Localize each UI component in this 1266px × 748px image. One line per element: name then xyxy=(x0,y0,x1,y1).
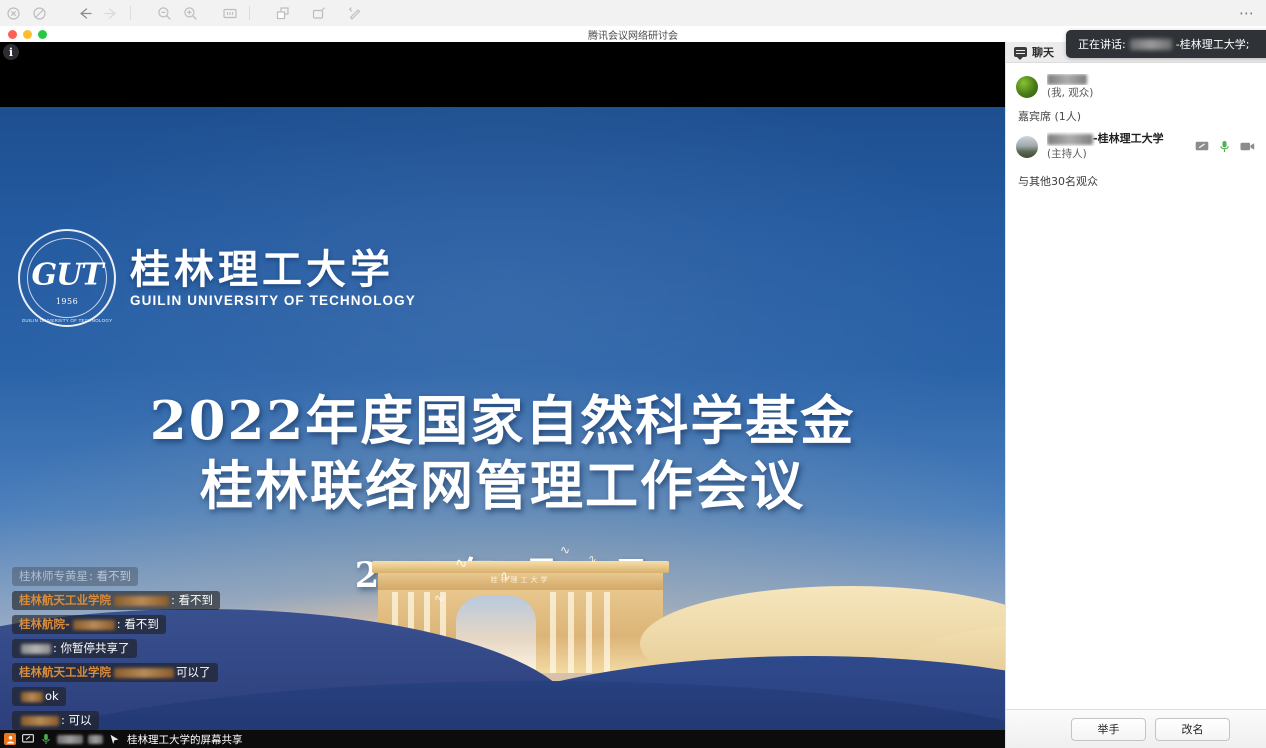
participant-role: (主持人) xyxy=(1047,147,1194,161)
participant-actions xyxy=(1194,141,1257,153)
overlay-sender: 桂林航天工业学院 xyxy=(19,665,111,680)
overlay-sender: 桂林航院- xyxy=(19,617,70,632)
zoom-in-icon[interactable] xyxy=(177,0,203,26)
tencent-meeting-window: ⋯ 腾讯会议网络研讨会 i GUT 1956 GUILIN UNIVERSITY… xyxy=(0,0,1266,748)
overlay-message: 桂林航天工业学院 : 看不到 xyxy=(12,591,220,610)
overlay-message: ok xyxy=(12,687,66,706)
university-crest-icon: GUT 1956 GUILIN UNIVERSITY OF TECHNOLOGY xyxy=(18,229,116,327)
window-arrange-icon[interactable] xyxy=(270,0,296,26)
crest-ring-text: GUILIN UNIVERSITY OF TECHNOLOGY xyxy=(20,318,114,323)
avatar xyxy=(1016,76,1038,98)
cancel-icon[interactable] xyxy=(26,0,52,26)
logo-english-name: GUILIN UNIVERSITY OF TECHNOLOGY xyxy=(130,293,416,308)
screen-share-icon[interactable] xyxy=(21,733,34,746)
overlay-colon: : xyxy=(53,641,61,656)
speaking-toast-suffix: -桂林理工大学; xyxy=(1176,36,1250,52)
zoom-out-icon[interactable] xyxy=(151,0,177,26)
overlay-message: : 可以 xyxy=(12,711,99,730)
guest-section-label: 嘉宾席 (1人) xyxy=(1006,105,1266,127)
share-status-text: 桂林理工大学的屏幕共享 xyxy=(127,732,243,747)
participant-name-blur xyxy=(1047,134,1093,145)
close-window-button[interactable] xyxy=(8,30,17,39)
overlay-sender-blur xyxy=(114,596,169,606)
overlay-sender: 桂林师专黄星 xyxy=(19,569,88,584)
university-logo: GUT 1956 GUILIN UNIVERSITY OF TECHNOLOGY… xyxy=(18,229,416,327)
list-item[interactable]: (我, 观众) xyxy=(1006,69,1266,105)
back-arrow-icon[interactable] xyxy=(72,0,98,26)
participant-role: (我, 观众) xyxy=(1047,86,1257,100)
slide-title: 2022年度国家自然科学基金 桂林联络网管理工作会议 xyxy=(0,389,1005,518)
minimize-window-button[interactable] xyxy=(23,30,32,39)
overlay-text: 可以 xyxy=(69,713,92,728)
raise-hand-button[interactable]: 举手 xyxy=(1071,718,1146,741)
overlay-text: 看不到 xyxy=(97,569,132,584)
overlay-sender-blur xyxy=(21,716,59,726)
other-attendees-label: 与其他30名观众 xyxy=(1006,166,1266,189)
avatar xyxy=(1016,136,1038,158)
toolbar-divider-2 xyxy=(249,6,250,20)
chat-bubble-icon xyxy=(1014,47,1027,57)
panel-footer: 举手 改名 xyxy=(1006,709,1266,748)
overlay-message: : 你暂停共享了 xyxy=(12,639,137,658)
participant-list: (我, 观众) 嘉宾席 (1人) -桂林理工大学 (主持人) xyxy=(1006,63,1266,189)
overlay-sender: 桂林航天工业学院 xyxy=(19,593,111,608)
crest-year: 1956 xyxy=(56,297,78,306)
rename-button[interactable]: 改名 xyxy=(1155,718,1230,741)
overlay-sender-blur xyxy=(114,668,174,678)
tab-chat[interactable]: 聊天 xyxy=(1006,42,1064,62)
list-item[interactable]: -桂林理工大学 (主持人) xyxy=(1006,127,1266,166)
stop-loading-icon[interactable] xyxy=(0,0,26,26)
speaking-toast: 正在讲话: -桂林理工大学; xyxy=(1066,30,1266,58)
overlay-text: 看不到 xyxy=(179,593,214,608)
forward-arrow-icon xyxy=(98,0,124,26)
overlay-message: 桂林航院- : 看不到 xyxy=(12,615,166,634)
more-options-icon[interactable]: ⋯ xyxy=(1234,0,1260,26)
markup-icon[interactable] xyxy=(342,0,368,26)
chat-overlay: 桂林师专黄星 : 看不到 桂林航天工业学院 : 看不到 桂林航院- : 看不到 … xyxy=(12,567,652,730)
overlay-sender-blur xyxy=(73,620,115,630)
traffic-lights xyxy=(8,30,47,39)
maximize-window-button[interactable] xyxy=(38,30,47,39)
tab-chat-label: 聊天 xyxy=(1032,44,1054,60)
screen-share-icon[interactable] xyxy=(1194,141,1209,153)
toolbar-divider-1 xyxy=(130,6,131,20)
microphone-icon[interactable] xyxy=(39,733,52,746)
speaking-toast-name-blur xyxy=(1130,39,1172,50)
slide-title-line-1: 2022年度国家自然科学基金 xyxy=(0,389,1005,454)
overlay-message: 桂林师专黄星 : 看不到 xyxy=(12,567,138,586)
blurred-label xyxy=(88,735,103,744)
participant-name-blur xyxy=(1047,74,1087,85)
participants-panel: 聊天 正在讲话: -桂林理工大学; (我, 观众) 嘉宾席 (1人) xyxy=(1005,42,1266,748)
actual-size-icon[interactable] xyxy=(217,0,243,26)
overlay-message: 桂林航天工业学院 可以了 xyxy=(12,663,218,682)
participant-name-suffix: -桂林理工大学 xyxy=(1093,132,1164,146)
overlay-text: 你暂停共享了 xyxy=(61,641,130,656)
overlay-colon: : xyxy=(171,593,179,608)
participant-name: -桂林理工大学 xyxy=(1047,132,1194,146)
overlay-text: 看不到 xyxy=(124,617,159,632)
overlay-text: ok xyxy=(45,689,59,704)
overlay-sender-blur xyxy=(21,644,51,654)
overlay-sender-blur xyxy=(21,692,43,702)
speaking-toast-prefix: 正在讲话: xyxy=(1078,36,1126,52)
blurred-label xyxy=(57,735,83,744)
participant-name xyxy=(1047,74,1257,85)
overlay-colon: : xyxy=(61,713,69,728)
logo-chinese-name: 桂林理工大学 xyxy=(130,248,416,291)
bird-icon: ∿ xyxy=(559,544,570,557)
overlay-colon: : xyxy=(89,569,97,584)
overlay-text: 可以了 xyxy=(176,665,211,680)
participant-icon[interactable] xyxy=(4,733,16,745)
new-window-icon[interactable] xyxy=(306,0,332,26)
camera-icon[interactable] xyxy=(1240,141,1255,153)
share-status-bar: 桂林理工大学的屏幕共享 xyxy=(0,730,1005,748)
shared-screen-stage[interactable]: i GUT 1956 GUILIN UNIVERSITY OF TECHNOLO… xyxy=(0,42,1005,748)
microphone-on-icon[interactable] xyxy=(1217,141,1232,153)
overlay-colon: : xyxy=(117,617,125,632)
os-toolbar: ⋯ xyxy=(0,0,1266,26)
crest-monogram: GUT xyxy=(31,258,102,293)
share-pointer-icon xyxy=(108,733,121,746)
speaking-toast-extra-blur xyxy=(1255,38,1266,51)
info-icon[interactable]: i xyxy=(3,44,19,60)
